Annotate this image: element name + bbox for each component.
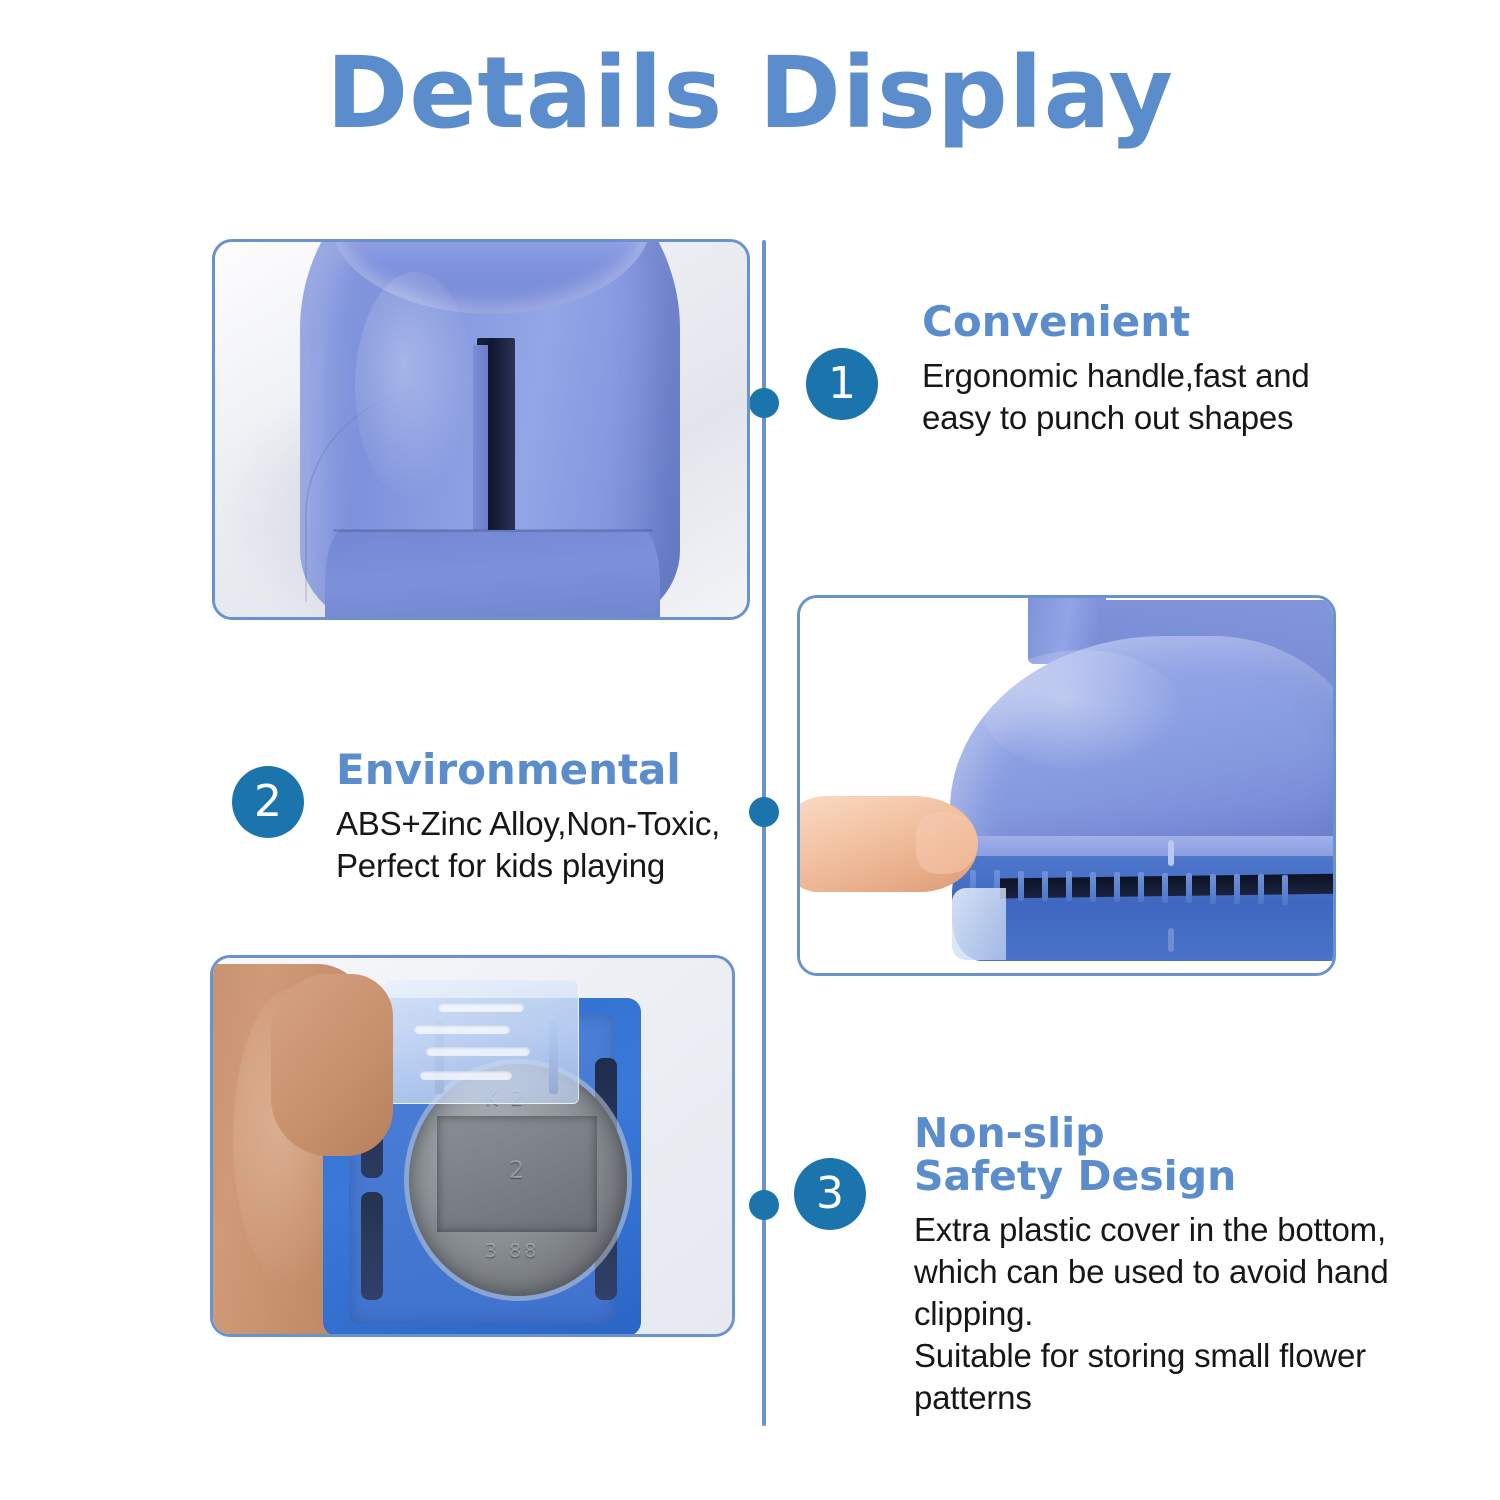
feature-heading-2: Environmental [336, 748, 720, 793]
punch-base-rib [1066, 871, 1072, 901]
punch-alignment-tick-bottom [1168, 928, 1174, 952]
punch-alignment-tick-top [1168, 840, 1174, 866]
page-title: Details Display [0, 42, 1500, 146]
clear-bottom-cover [383, 980, 579, 1104]
punch-gloss-highlight [355, 272, 475, 502]
feature-body-2: ABS+Zinc Alloy,Non-Toxic, Perfect for ki… [336, 803, 720, 887]
feature-body-line: easy to punch out shapes [922, 397, 1310, 439]
punch-base-seam [333, 529, 653, 532]
feature-heading-line: Non-slip [914, 1112, 1388, 1155]
feature-body-line: Extra plastic cover in the bottom, [914, 1209, 1388, 1251]
punch-base-rib [1090, 872, 1096, 902]
feature-heading-1: Convenient [922, 300, 1310, 345]
feature-heading-line: Safety Design [914, 1155, 1388, 1198]
cover-slit [426, 1047, 530, 1056]
product-photo-panel-2 [797, 595, 1336, 976]
feature-heading-3: Non-slip Safety Design [914, 1112, 1388, 1199]
feature-body-line: ABS+Zinc Alloy,Non-Toxic, [336, 803, 720, 845]
feature-text-3: Non-slip Safety Design Extra plastic cov… [914, 1112, 1388, 1418]
punch-base-rib [1162, 873, 1168, 903]
punch-base-rib [1042, 871, 1048, 901]
timeline-dot-1 [749, 388, 779, 418]
feature-body-line: Suitable for storing small flower [914, 1335, 1388, 1377]
cover-slit [420, 1071, 512, 1080]
fingertip [916, 812, 978, 874]
feature-number-badge-3: 3 [794, 1158, 866, 1230]
feature-body-line: Perfect for kids playing [336, 845, 720, 887]
punch-base-rib [1258, 874, 1264, 904]
punch-base [325, 530, 660, 617]
photo-2-image [800, 598, 1333, 973]
punch-base-rib [1186, 873, 1192, 903]
timeline-dot-2 [749, 797, 779, 827]
photo-3-image: K 2 2 3 88 [213, 958, 732, 1334]
feature-body-line: Ergonomic handle,fast and [922, 355, 1310, 397]
feature-number-badge-2: 2 [232, 766, 304, 838]
feature-text-2: Environmental ABS+Zinc Alloy,Non-Toxic, … [336, 748, 720, 887]
feature-body-1: Ergonomic handle,fast and easy to punch … [922, 355, 1310, 439]
feature-heading-line: Environmental [336, 748, 720, 793]
punch-dome-highlight [982, 650, 1182, 770]
frame-vent-left-bottom [361, 1192, 383, 1300]
punch-base-rib [1282, 875, 1288, 905]
punch-base-rib [1114, 872, 1120, 902]
feature-body-line: clipping. [914, 1293, 1388, 1335]
product-photo-panel-3: K 2 2 3 88 [210, 955, 735, 1337]
feature-body-3: Extra plastic cover in the bottom, which… [914, 1209, 1388, 1419]
timeline-dot-3 [749, 1190, 779, 1220]
photo-1-image [215, 242, 747, 617]
punch-base-rib [1138, 872, 1144, 902]
die-emboss-mid: 2 [509, 1156, 527, 1184]
product-photo-panel-1 [212, 239, 750, 620]
punch-clear-cover [952, 888, 1006, 960]
feature-body-line: which can be used to avoid hand [914, 1251, 1388, 1293]
punch-base-ribs [970, 870, 1300, 902]
cover-slit [438, 1003, 524, 1012]
feature-number-badge-1: 1 [806, 348, 878, 420]
feature-body-line: patterns [914, 1377, 1388, 1419]
infographic-page: Details Display [0, 0, 1500, 1500]
cover-slit [414, 1025, 510, 1034]
die-emboss-bottom: 3 88 [485, 1240, 539, 1262]
thumb [271, 974, 393, 1156]
punch-base-rib [1234, 874, 1240, 904]
punch-base-rib [1210, 874, 1216, 904]
feature-heading-line: Convenient [922, 300, 1310, 345]
punch-base-rib [1018, 871, 1024, 901]
feature-text-1: Convenient Ergonomic handle,fast and eas… [922, 300, 1310, 439]
